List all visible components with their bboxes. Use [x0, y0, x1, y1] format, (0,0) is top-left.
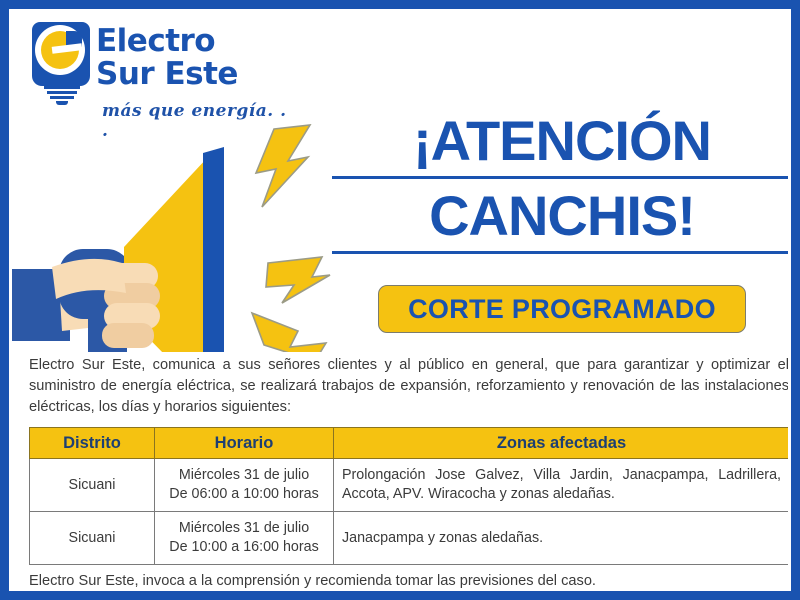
lightning-bolt-icon-2 — [266, 257, 330, 303]
logo-socket-line-1 — [44, 86, 80, 89]
footer-note: Electro Sur Este, invoca a la comprensió… — [29, 571, 789, 591]
page-title-line-1: ¡ATENCIÓN — [332, 108, 791, 179]
corte-programado-banner: CORTE PROGRAMADO — [378, 285, 746, 333]
table-row: Sicuani Miércoles 31 de julio De 10:00 a… — [30, 512, 790, 565]
column-header-zonas-afectadas: Zonas afectadas — [334, 428, 790, 459]
cell-zonas: Prolongación Jose Galvez, Villa Jardin, … — [334, 459, 790, 512]
notice-poster: Electro Sur Este más que energía. . . — [0, 0, 800, 600]
logo-socket-line-3 — [50, 96, 74, 99]
logo-socket-line-2 — [47, 91, 77, 94]
page-title: ¡ATENCIÓN CANCHIS! — [332, 108, 791, 258]
intro-paragraph: Electro Sur Este, comunica a sus señores… — [29, 355, 789, 418]
poster-inner-frame: Electro Sur Este más que energía. . . — [9, 9, 791, 591]
table-row: Sicuani Miércoles 31 de julio De 06:00 a… — [30, 459, 790, 512]
brand-name-line-1: Electro — [96, 25, 238, 58]
finger-shape-4 — [102, 323, 154, 348]
cell-distrito: Sicuani — [30, 459, 155, 512]
cell-horario-dia: Miércoles 31 de julio — [163, 466, 325, 485]
cell-horario-dia: Miércoles 31 de julio — [163, 519, 325, 538]
lightbulb-e-logo-icon — [30, 22, 92, 108]
cell-horario-rango: De 10:00 a 16:00 horas — [163, 538, 325, 557]
cell-zonas: Janacpampa y zonas aledañas. — [334, 512, 790, 565]
lightning-bolt-icon-1 — [256, 125, 310, 207]
cell-horario: Miércoles 31 de julio De 10:00 a 16:00 h… — [155, 512, 334, 565]
cell-distrito: Sicuani — [30, 512, 155, 565]
cell-horario-rango: De 06:00 a 10:00 horas — [163, 485, 325, 504]
column-header-horario: Horario — [155, 428, 334, 459]
page-title-line-2: CANCHIS! — [332, 183, 791, 254]
brand-name-line-2: Sur Este — [96, 58, 238, 91]
cell-horario: Miércoles 31 de julio De 06:00 a 10:00 h… — [155, 459, 334, 512]
brand-logo-block: Electro Sur Este más que energía. . . — [20, 16, 290, 126]
column-header-distrito: Distrito — [30, 428, 155, 459]
outage-schedule-table: Distrito Horario Zonas afectadas Sicuani… — [29, 427, 790, 565]
brand-name: Electro Sur Este — [96, 25, 238, 91]
megaphone-with-hand-and-lightning-bolts — [12, 117, 342, 352]
lightning-bolt-icon-3 — [252, 313, 326, 352]
table-header-row: Distrito Horario Zonas afectadas — [30, 428, 790, 459]
logo-socket-base — [56, 101, 68, 105]
megaphone-rim-shape — [203, 147, 224, 352]
